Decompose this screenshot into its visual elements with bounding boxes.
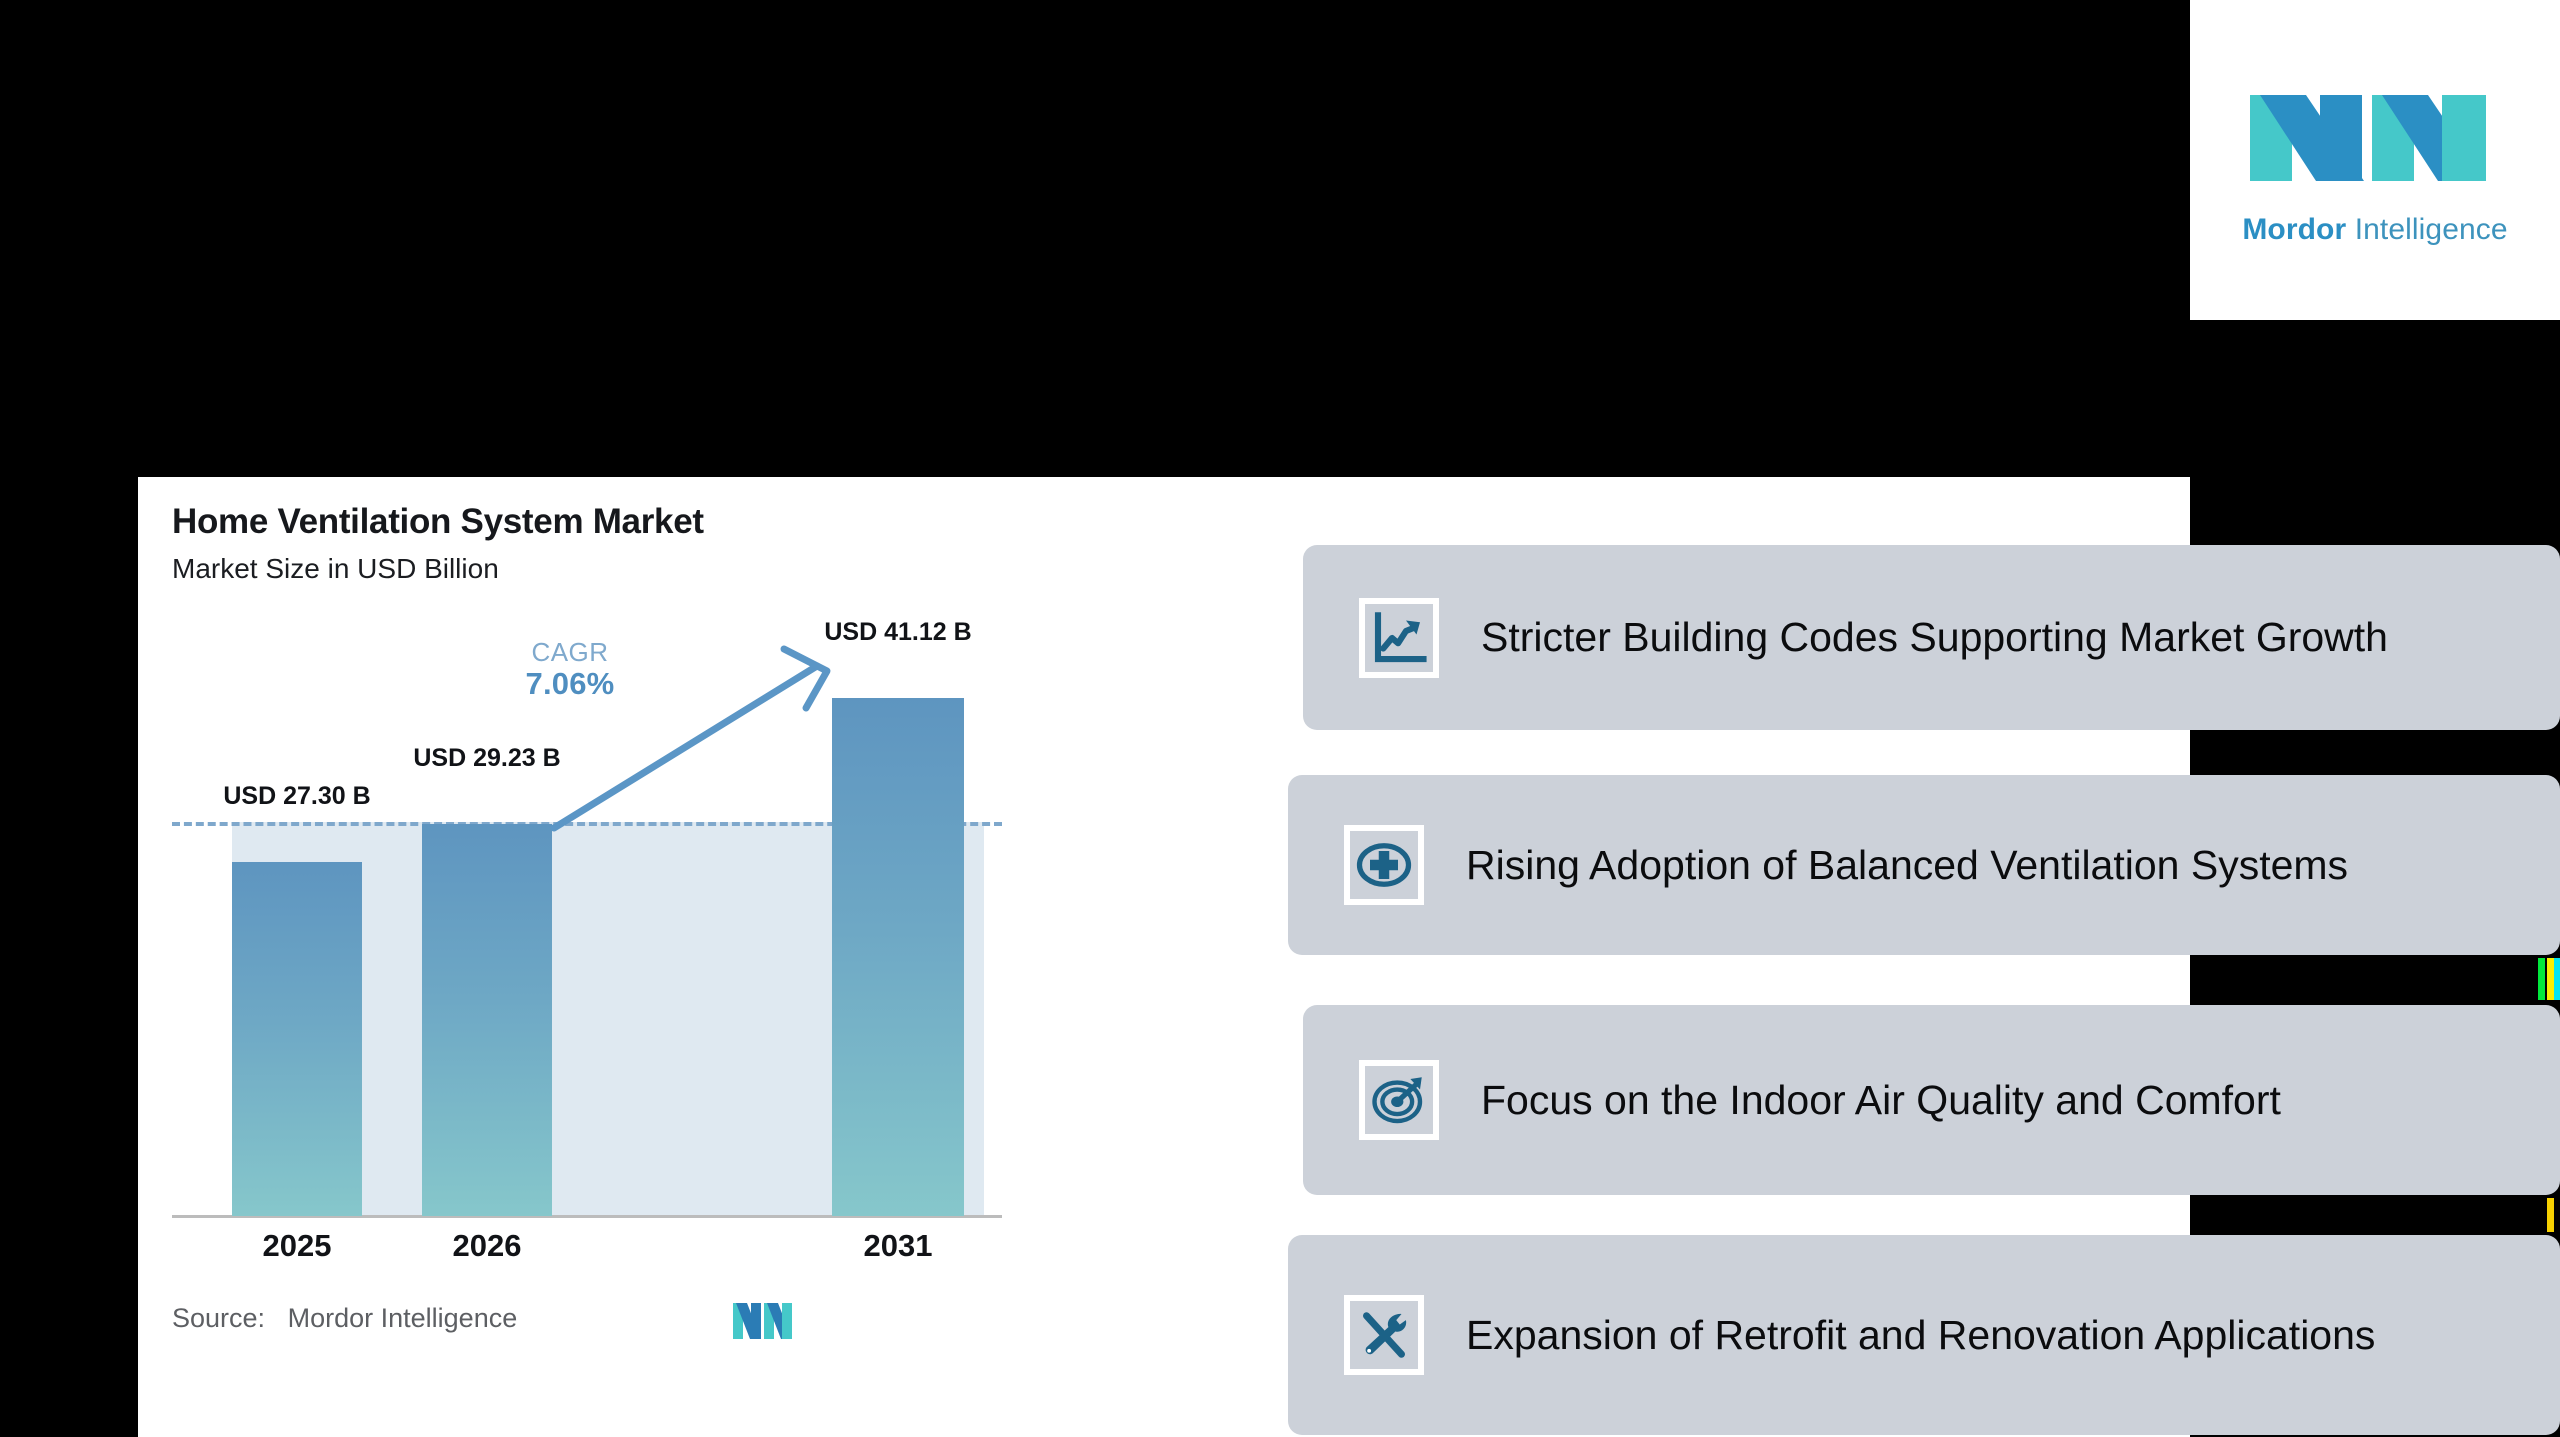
- cagr-label-text: CAGR: [490, 638, 650, 667]
- edge-artifact-cyan: [2554, 958, 2560, 1000]
- mordor-intelligence-logo-icon: [2246, 73, 2504, 203]
- highlight-card-1-text: Stricter Building Codes Supporting Marke…: [1481, 610, 2418, 665]
- x-tick-2031: 2031: [832, 1228, 964, 1264]
- brand-word-mordor: Mordor: [2242, 213, 2346, 246]
- bar-value-label-2031: USD 41.12 B: [793, 618, 1003, 647]
- highlight-card-3[interactable]: Focus on the Indoor Air Quality and Comf…: [1303, 1005, 2560, 1195]
- edge-artifact-green: [2538, 958, 2545, 1000]
- chart-subtitle: Market Size in USD Billion: [172, 553, 499, 585]
- growth-chart-icon: [1359, 598, 1439, 678]
- source-prefix: Source:: [172, 1303, 265, 1333]
- highlight-card-1[interactable]: Stricter Building Codes Supporting Marke…: [1303, 545, 2560, 730]
- source-label: Source: Mordor Intelligence: [172, 1303, 517, 1334]
- mordor-mark-icon: [732, 1299, 794, 1343]
- highlight-card-4-text: Expansion of Retrofit and Renovation App…: [1466, 1308, 2405, 1363]
- bar-value-label-2026: USD 29.23 B: [382, 744, 592, 773]
- edge-artifact-yellow: [2547, 958, 2554, 1000]
- plus-circle-icon: [1344, 825, 1424, 905]
- tools-icon: [1344, 1295, 1424, 1375]
- brand-wordmark: Mordor Intelligence: [2242, 213, 2507, 247]
- cagr-annotation: CAGR 7.06%: [490, 638, 650, 702]
- brand-logo-panel: Mordor Intelligence: [2190, 0, 2560, 320]
- chart-source-row: Source: Mordor Intelligence: [172, 1299, 1002, 1349]
- highlight-card-3-text: Focus on the Indoor Air Quality and Comf…: [1481, 1073, 2311, 1128]
- source-name: Mordor Intelligence: [288, 1303, 518, 1333]
- brand-word-intelligence: Intelligence: [2355, 213, 2508, 246]
- highlight-card-2-text: Rising Adoption of Balanced Ventilation …: [1466, 838, 2378, 893]
- bar-value-label-2025: USD 27.30 B: [192, 782, 402, 811]
- bar-2031: [832, 698, 964, 1216]
- highlight-card-4[interactable]: Expansion of Retrofit and Renovation App…: [1288, 1235, 2560, 1435]
- highlight-card-2[interactable]: Rising Adoption of Balanced Ventilation …: [1288, 775, 2560, 955]
- edge-artifact-yellow-2: [2547, 1198, 2554, 1232]
- bar-2025: [232, 862, 362, 1216]
- target-dart-icon: [1359, 1060, 1439, 1140]
- x-tick-2026: 2026: [422, 1228, 552, 1264]
- chart-title: Home Ventilation System Market: [172, 502, 704, 542]
- cagr-value-text: 7.06%: [490, 667, 650, 702]
- x-tick-2025: 2025: [232, 1228, 362, 1264]
- bar-chart-plot-area: USD 27.30 B 2025 USD 29.23 B 2026 USD 41…: [172, 632, 1002, 1252]
- bar-2026: [422, 824, 552, 1216]
